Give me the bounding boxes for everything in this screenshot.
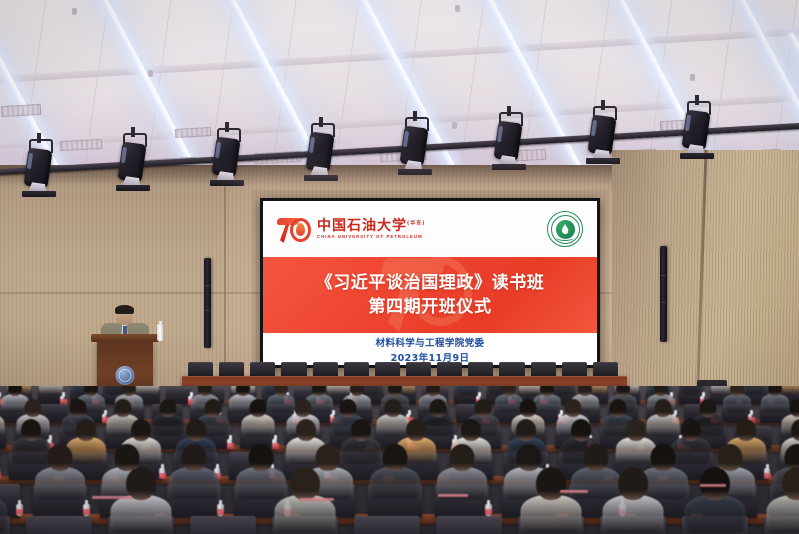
university-logo: 中国石油大学(华东) CHINA UNIVERSITY OF PETROLEUM xyxy=(277,214,426,244)
slide-title-line2: 第四期开班仪式 xyxy=(368,295,491,319)
water-bottle xyxy=(83,504,90,516)
desk-accent-light xyxy=(92,496,132,499)
person-torso xyxy=(603,495,664,533)
sprinkler-head xyxy=(690,74,695,81)
slide-title-band: 《习近平谈治国理政》读书班 第四期开班仪式 xyxy=(263,257,597,333)
lecture-hall-photo: 中国石油大学(华东) CHINA UNIVERSITY OF PETROLEUM… xyxy=(0,0,799,534)
audience-person xyxy=(518,467,584,534)
person-head xyxy=(700,399,717,417)
person-head xyxy=(681,419,701,441)
audience-seat xyxy=(354,516,420,534)
sprinkler-head xyxy=(452,122,457,129)
person-head xyxy=(250,399,267,417)
person-head xyxy=(475,399,492,417)
person-head xyxy=(115,399,132,417)
university-name-cn: 中国石油大学 xyxy=(317,218,407,234)
stage-light xyxy=(304,123,338,185)
sprinkler-head xyxy=(455,5,460,12)
audience-person xyxy=(108,467,174,534)
audience-person xyxy=(38,386,64,397)
person-head xyxy=(296,419,316,441)
person-head xyxy=(249,444,274,471)
audience-person xyxy=(240,399,276,439)
podium-water-bottle xyxy=(157,324,163,341)
desk-accent-light xyxy=(700,484,726,487)
audience-seat xyxy=(190,516,256,534)
university-campus-suffix: (华东) xyxy=(407,220,426,226)
person-head xyxy=(160,399,177,417)
person-head xyxy=(655,399,672,417)
person-head xyxy=(520,399,537,417)
person-torso xyxy=(370,467,420,499)
audience-person xyxy=(0,467,10,534)
person-torso xyxy=(169,467,219,499)
audience-person xyxy=(764,467,799,534)
person-head xyxy=(290,467,320,500)
person-head xyxy=(536,467,566,500)
audience-area xyxy=(0,386,799,534)
line-array-speaker-right xyxy=(660,246,667,342)
desk-accent-light xyxy=(438,494,468,497)
audience-person xyxy=(33,444,87,503)
person-head xyxy=(618,467,648,500)
slide-surface: 中国石油大学(华东) CHINA UNIVERSITY OF PETROLEUM… xyxy=(263,201,597,365)
stage-light xyxy=(492,112,526,174)
person-head xyxy=(385,399,402,417)
sprinkler-head xyxy=(72,8,77,15)
slide-footer: 材料科学与工程学院党委 2023年11月9日 xyxy=(263,333,597,365)
audience-person xyxy=(678,386,704,397)
audience-person xyxy=(368,444,422,503)
person-torso xyxy=(35,467,85,499)
audience-person xyxy=(682,467,748,534)
slide-title-line1: 《习近平谈治国理政》读书班 xyxy=(316,271,545,295)
person-head xyxy=(182,444,207,471)
sprinkler-head xyxy=(148,70,153,77)
desk-accent-light xyxy=(560,490,588,493)
university-name-en: CHINA UNIVERSITY OF PETROLEUM xyxy=(317,235,426,239)
person-torso xyxy=(685,495,746,533)
person-head xyxy=(790,399,799,417)
water-bottle xyxy=(227,439,232,447)
audience-seat xyxy=(436,516,502,534)
person-torso xyxy=(723,394,751,412)
person-head xyxy=(295,399,312,417)
person-head xyxy=(205,399,222,417)
projection-screen: 中国石油大学(华东) CHINA UNIVERSITY OF PETROLEUM… xyxy=(260,198,600,368)
desk-accent-light xyxy=(300,498,334,501)
university-name-block: 中国石油大学(华东) CHINA UNIVERSITY OF PETROLEUM xyxy=(317,219,426,239)
wall-seam-vertical xyxy=(224,165,226,395)
anniversary-flame-icon xyxy=(277,214,311,244)
ceiling-vent xyxy=(1,104,42,117)
person-head xyxy=(736,419,756,441)
person-torso xyxy=(0,414,5,436)
person-head xyxy=(25,399,42,417)
audience-person xyxy=(167,444,221,503)
person-head xyxy=(406,419,426,441)
person-torso xyxy=(521,495,582,533)
person-torso xyxy=(39,386,63,395)
podium-top xyxy=(91,334,159,342)
person-torso xyxy=(242,414,275,436)
person-head xyxy=(516,419,536,441)
audience-person xyxy=(600,467,666,534)
green-circular-emblem-icon xyxy=(547,211,583,247)
stage-light xyxy=(22,139,56,201)
person-torso xyxy=(679,386,703,395)
person-torso xyxy=(111,495,172,533)
slide-organizer: 材料科学与工程学院党委 xyxy=(376,335,485,349)
person-head xyxy=(626,419,646,441)
person-head xyxy=(131,419,151,441)
person-torso xyxy=(767,495,799,533)
person-head xyxy=(610,399,627,417)
person-head xyxy=(383,444,408,471)
person-head xyxy=(48,444,73,471)
person-head xyxy=(340,399,357,417)
person-head xyxy=(186,419,206,441)
stage-light xyxy=(116,133,150,195)
audience-person xyxy=(722,386,752,414)
stage-light xyxy=(586,106,620,168)
person-head xyxy=(461,419,481,441)
stage-light xyxy=(210,128,244,190)
audience-row xyxy=(0,516,799,534)
stage-light xyxy=(398,117,432,179)
person-head xyxy=(450,444,475,471)
audience-person xyxy=(454,386,480,397)
person-head xyxy=(76,419,96,441)
water-bottle xyxy=(217,504,224,516)
person-head xyxy=(351,419,371,441)
person-head xyxy=(70,399,87,417)
slide-logo-bar: 中国石油大学(华东) CHINA UNIVERSITY OF PETROLEUM xyxy=(263,201,597,257)
person-head xyxy=(430,399,447,417)
university-seal-icon xyxy=(116,366,135,385)
person-head xyxy=(571,419,591,441)
water-bottle xyxy=(16,504,23,516)
person-head xyxy=(21,419,41,441)
audience-person xyxy=(0,399,6,439)
person-torso xyxy=(455,386,479,395)
water-bottle xyxy=(485,504,492,516)
stage-light xyxy=(680,101,714,163)
audience-seat xyxy=(26,516,92,534)
person-torso xyxy=(0,495,8,533)
person-head xyxy=(565,399,582,417)
line-array-speaker-left xyxy=(204,258,211,348)
